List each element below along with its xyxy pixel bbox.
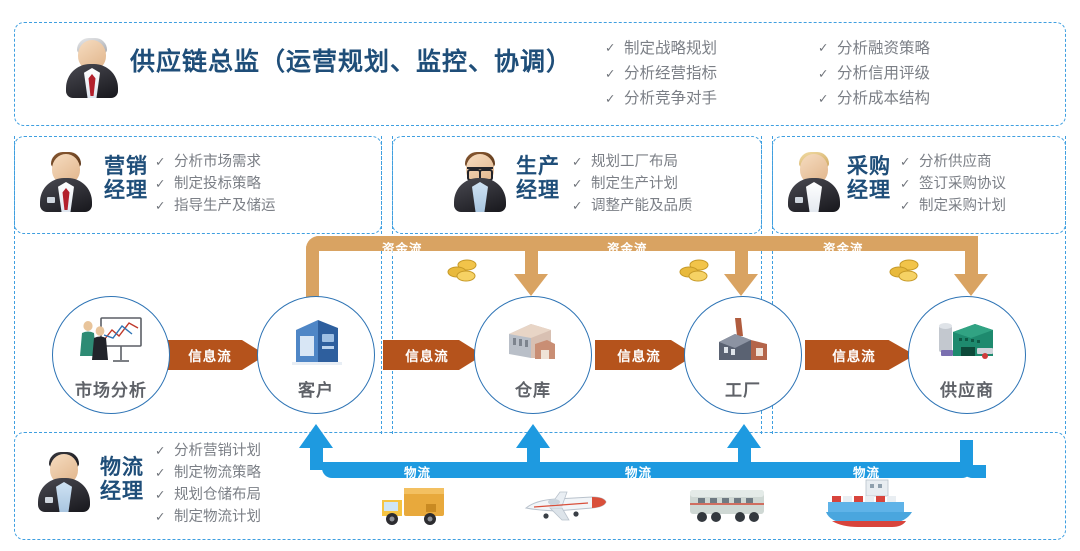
check-icon: ✓: [155, 175, 166, 194]
capital-flow-label: 资金流: [382, 238, 423, 257]
node-label: 供应商: [940, 376, 994, 401]
list-item: ✓ 制定物流策略: [155, 462, 261, 484]
list-item: ✓ 调整产能及品质: [572, 195, 693, 217]
node-label: 市场分析: [75, 376, 147, 401]
check-icon: ✓: [900, 197, 911, 216]
logistics-manager-tasks: ✓ 分析营销计划 ✓ 制定物流策略 ✓ 规划仓储布局 ✓ 制定物流计划: [155, 440, 261, 528]
procurement-manager-avatar: [786, 152, 842, 214]
check-icon: ✓: [572, 153, 583, 172]
check-icon: ✓: [900, 153, 911, 172]
task-label: 制定采购计划: [919, 195, 1006, 217]
marketing-manager-tasks: ✓ 分析市场需求 ✓ 制定投标策略 ✓ 指导生产及储运: [155, 151, 276, 217]
check-icon: ✓: [155, 197, 166, 216]
office-building-icon: [284, 314, 348, 366]
supply-chain-director-avatar: [64, 38, 120, 100]
capital-flow-label: 资金流: [607, 238, 648, 257]
list-item: ✓ 分析信用评级: [818, 61, 930, 86]
logistics-manager-avatar: [36, 452, 92, 514]
list-item: ✓ 制定战略规划: [605, 36, 717, 61]
task-label: 分析信用评级: [837, 61, 930, 86]
production-manager-avatar: [452, 152, 508, 214]
check-icon: ✓: [818, 64, 829, 84]
list-item: ✓ 指导生产及储运: [155, 195, 276, 217]
gold-coins-icon: [444, 258, 480, 284]
info-flow-arrow-4: 信息流: [805, 340, 915, 370]
node-warehouse[interactable]: 仓库: [474, 296, 592, 414]
check-icon: ✓: [605, 89, 616, 109]
check-icon: ✓: [155, 153, 166, 172]
list-item: ✓ 分析竞争对手: [605, 86, 717, 111]
list-item: ✓ 制定采购计划: [900, 195, 1006, 217]
info-flow-arrow-3: 信息流: [595, 340, 695, 370]
task-label: 制定物流计划: [174, 506, 261, 528]
capital-flow-riser-supplier: [965, 236, 978, 276]
check-icon: ✓: [572, 175, 583, 194]
node-label: 客户: [298, 376, 334, 401]
list-item: ✓ 分析经营指标: [605, 61, 717, 86]
task-label: 分析竞争对手: [624, 86, 717, 111]
task-label: 制定物流策略: [174, 462, 261, 484]
task-label: 制定战略规划: [624, 36, 717, 61]
task-label: 分析市场需求: [174, 151, 261, 173]
check-icon: ✓: [818, 38, 829, 58]
capital-flow-arrowhead-supplier: [954, 274, 988, 296]
capital-flow-arrowhead-factory: [724, 274, 758, 296]
info-flow-label: 信息流: [405, 345, 449, 365]
capital-flow-label: 资金流: [823, 238, 864, 257]
list-item: ✓ 签订采购协议: [900, 173, 1006, 195]
task-label: 规划仓储布局: [174, 484, 261, 506]
production-manager-tasks: ✓ 规划工厂布局 ✓ 制定生产计划 ✓ 调整产能及品质: [572, 151, 693, 217]
node-market-analysis[interactable]: 市场分析: [52, 296, 170, 414]
container-ship-icon: [822, 476, 916, 532]
node-label: 工厂: [725, 376, 761, 401]
list-item: ✓ 分析融资策略: [818, 36, 930, 61]
supply-chain-diagram: 供应链总监（运营规划、监控、协调） ✓ 制定战略规划 ✓ 分析经营指标 ✓ 分析…: [0, 0, 1080, 551]
list-item: ✓ 分析市场需求: [155, 151, 276, 173]
list-item: ✓ 分析成本结构: [818, 86, 930, 111]
capital-flow-riser-warehouse: [525, 236, 538, 276]
check-icon: ✓: [155, 508, 166, 527]
task-label: 签订采购协议: [919, 173, 1006, 195]
marketing-manager-avatar: [38, 152, 94, 214]
list-item: ✓ 制定物流计划: [155, 506, 261, 528]
node-label: 仓库: [515, 376, 551, 401]
list-item: ✓ 制定生产计划: [572, 173, 693, 195]
capital-flow-riser-customer: [306, 249, 319, 301]
procurement-manager-tasks: ✓ 分析供应商 ✓ 签订采购协议 ✓ 制定采购计划: [900, 151, 1006, 217]
list-item: ✓ 分析营销计划: [155, 440, 261, 462]
check-icon: ✓: [605, 38, 616, 58]
production-manager-title: 生产 经理: [516, 155, 560, 202]
freight-train-icon: [686, 484, 768, 526]
marketing-manager-title: 营销 经理: [104, 155, 148, 202]
factory-icon: [711, 314, 775, 366]
task-label: 制定生产计划: [591, 173, 678, 195]
info-flow-label: 信息流: [617, 345, 661, 365]
info-flow-arrow-1: 信息流: [166, 340, 266, 370]
cargo-airplane-icon: [520, 480, 612, 528]
director-tasks-right: ✓ 分析融资策略 ✓ 分析信用评级 ✓ 分析成本结构: [818, 36, 930, 111]
check-icon: ✓: [155, 442, 166, 461]
logistics-flow-riser-factory: [738, 446, 751, 470]
list-item: ✓ 制定投标策略: [155, 173, 276, 195]
check-icon: ✓: [900, 175, 911, 194]
logistics-manager-title: 物流 经理: [100, 456, 144, 503]
list-item: ✓ 规划仓储布局: [155, 484, 261, 506]
gold-coins-icon: [676, 258, 712, 284]
presentation-chart-icon: [79, 314, 143, 366]
procurement-manager-title: 采购 经理: [847, 155, 891, 202]
task-label: 规划工厂布局: [591, 151, 678, 173]
info-flow-label: 信息流: [832, 345, 876, 365]
page-title: 供应链总监（运营规划、监控、协调）: [130, 48, 572, 76]
list-item: ✓ 规划工厂布局: [572, 151, 693, 173]
check-icon: ✓: [572, 197, 583, 216]
node-customer[interactable]: 客户: [257, 296, 375, 414]
info-flow-label: 信息流: [188, 345, 232, 365]
logistics-flow-label: 物流: [404, 462, 431, 481]
check-icon: ✓: [155, 464, 166, 483]
check-icon: ✓: [605, 64, 616, 84]
capital-flow-arrowhead-warehouse: [514, 274, 548, 296]
task-label: 分析供应商: [919, 151, 992, 173]
task-label: 调整产能及品质: [591, 195, 693, 217]
gold-coins-icon: [886, 258, 922, 284]
warehouse-building-icon: [501, 314, 565, 366]
list-item: ✓ 分析供应商: [900, 151, 1006, 173]
delivery-truck-icon: [378, 482, 450, 528]
task-label: 分析成本结构: [837, 86, 930, 111]
logistics-flow-riser-warehouse: [527, 446, 540, 470]
task-label: 分析营销计划: [174, 440, 261, 462]
task-label: 分析融资策略: [837, 36, 930, 61]
check-icon: ✓: [155, 486, 166, 505]
capital-flow-riser-factory: [735, 236, 748, 276]
info-flow-arrow-2: 信息流: [383, 340, 483, 370]
task-label: 制定投标策略: [174, 173, 261, 195]
logistics-flow-riser-customer: [310, 446, 323, 470]
green-depot-icon: [935, 314, 999, 366]
director-tasks-left: ✓ 制定战略规划 ✓ 分析经营指标 ✓ 分析竞争对手: [605, 36, 717, 111]
node-factory[interactable]: 工厂: [684, 296, 802, 414]
logistics-flow-riser-supplier: [960, 440, 973, 464]
node-supplier[interactable]: 供应商: [908, 296, 1026, 414]
check-icon: ✓: [818, 89, 829, 109]
logistics-flow-label: 物流: [625, 462, 652, 481]
task-label: 指导生产及储运: [174, 195, 276, 217]
task-label: 分析经营指标: [624, 61, 717, 86]
